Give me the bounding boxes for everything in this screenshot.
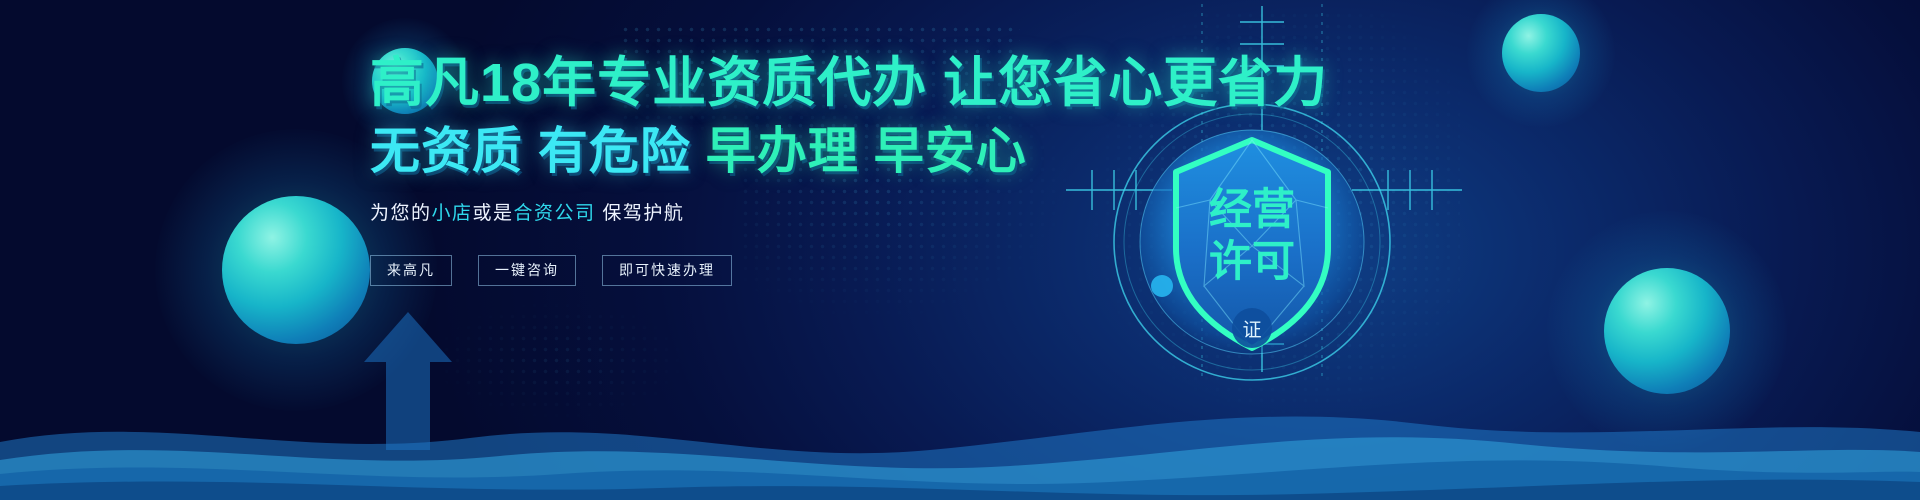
subtitle-highlight-2: 合资公司 bbox=[514, 203, 596, 224]
emblem-line3: 证 bbox=[1242, 319, 1261, 341]
promo-banner: 经营 许可 证 高凡18年专业资质代办 让您省心更省力 无资质 有危险 早办理 … bbox=[0, 0, 1920, 500]
sphere-icon-left bbox=[222, 196, 370, 344]
banner-text-block: 高凡18年专业资质代办 让您省心更省力 无资质 有危险 早办理 早安心 为您的小… bbox=[370, 56, 1190, 286]
subtitle-pre: 为您的 bbox=[370, 203, 432, 224]
sphere-icon-top-right bbox=[1502, 14, 1580, 92]
emblem-line1: 经营 bbox=[1209, 186, 1295, 234]
banner-subtitle: 为您的小店或是合资公司 保驾护航 bbox=[370, 198, 1190, 225]
subtitle-post: 保驾护航 bbox=[596, 203, 685, 224]
headline-line-1: 高凡18年专业资质代办 让您省心更省力 bbox=[370, 56, 1190, 110]
headline-line-2: 无资质 有危险 早办理 早安心 bbox=[370, 126, 1190, 176]
headline-line-2-part-2: 早办理 早安心 bbox=[706, 123, 1027, 179]
subtitle-mid: 或是 bbox=[473, 203, 514, 224]
cta-button-3[interactable]: 即可快速办理 bbox=[602, 255, 732, 286]
cta-button-2[interactable]: 一键咨询 bbox=[478, 255, 576, 286]
cta-button-row: 来高凡 一键咨询 即可快速办理 bbox=[370, 255, 1190, 286]
headline-line-2-part-1: 无资质 有危险 bbox=[370, 123, 706, 179]
cta-button-1[interactable]: 来高凡 bbox=[370, 255, 452, 286]
emblem-line2: 许可 bbox=[1209, 238, 1295, 286]
subtitle-highlight-1: 小店 bbox=[432, 203, 473, 224]
wave-decoration bbox=[0, 350, 1920, 500]
